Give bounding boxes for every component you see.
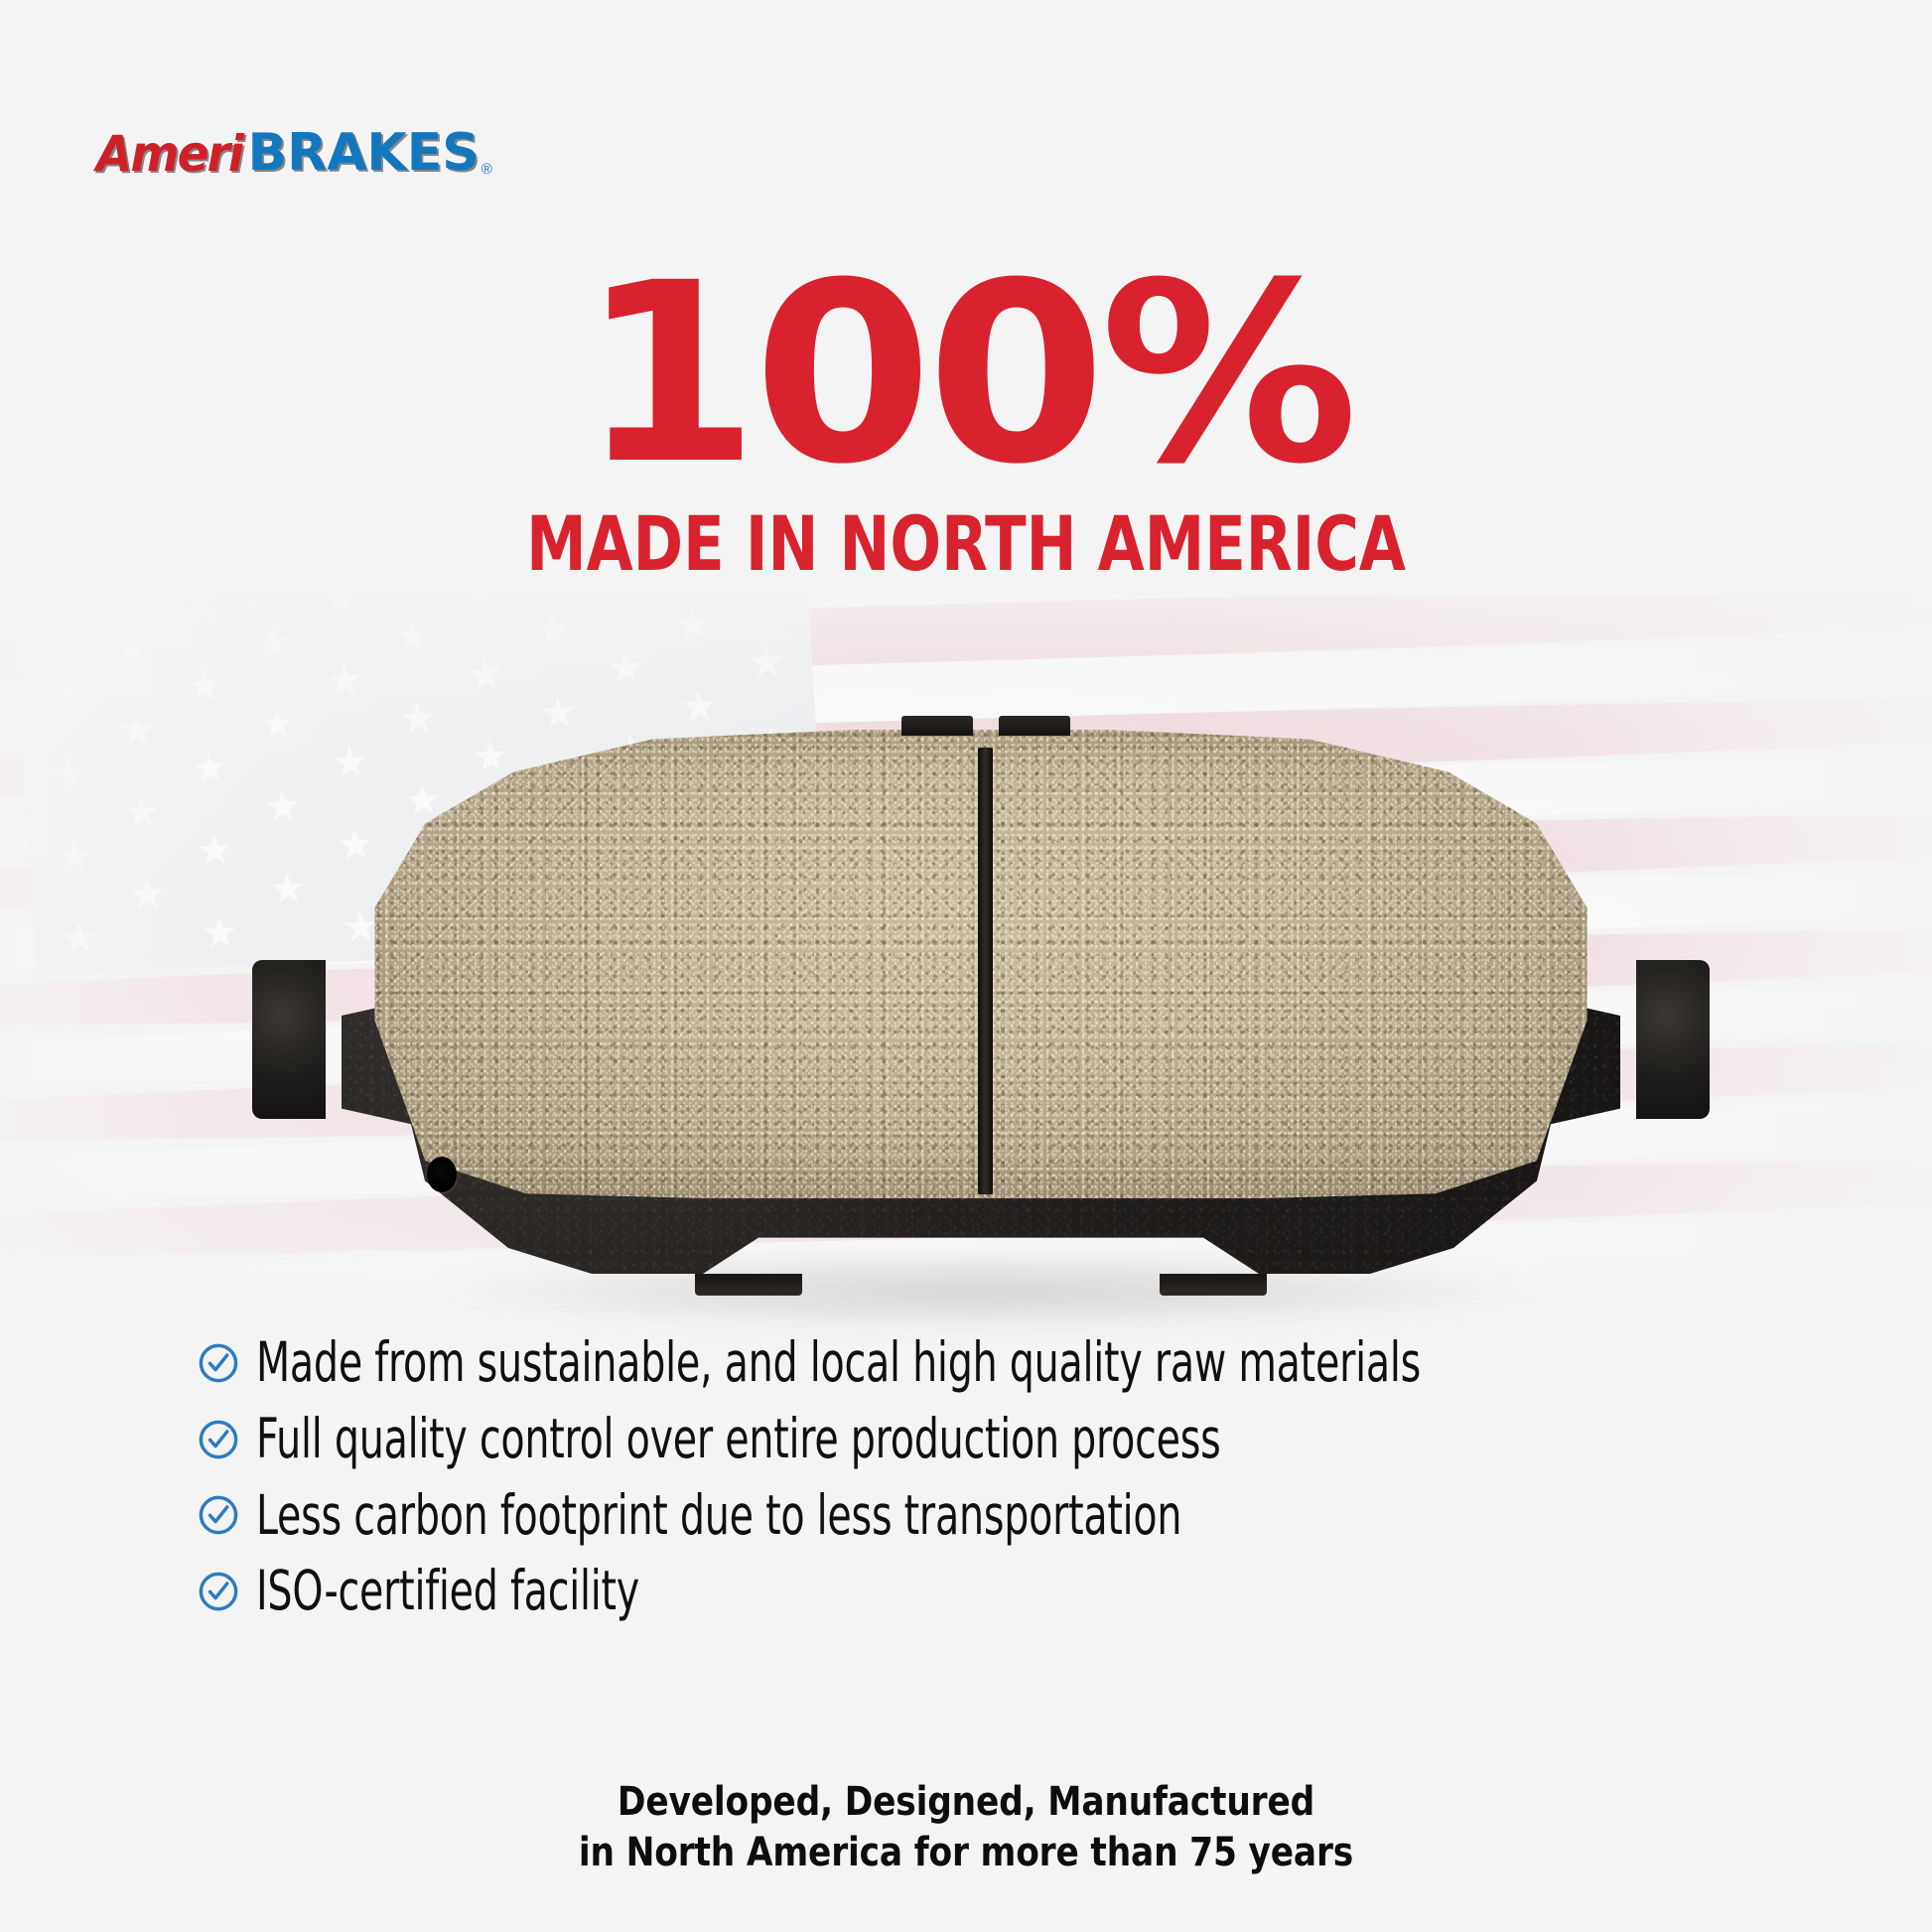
feature-label: Made from sustainable, and local high qu… xyxy=(256,1334,1421,1392)
check-circle-icon xyxy=(197,1493,240,1537)
registered-trademark-icon: ® xyxy=(482,162,492,177)
list-item: Made from sustainable, and local high qu… xyxy=(197,1334,1805,1392)
check-circle-icon xyxy=(197,1418,240,1461)
pad-rivet-hole xyxy=(427,1157,457,1192)
pad-tab-bottom-right xyxy=(1160,1274,1267,1296)
check-circle-icon xyxy=(197,1341,240,1385)
footer-line-1: Developed, Designed, Manufactured xyxy=(135,1777,1797,1828)
logo-text-brakes: BRAKES xyxy=(248,127,480,179)
feature-list: Made from sustainable, and local high qu… xyxy=(197,1334,1805,1639)
pad-ear-right xyxy=(1636,960,1710,1119)
feature-label: Full quality control over entire product… xyxy=(256,1411,1221,1468)
promo-canvas: Ameri BRAKES ® 100% MADE IN NORTH AMERIC… xyxy=(0,0,1932,1932)
page-subtitle: MADE IN NORTH AMERICA xyxy=(194,506,1739,582)
list-item: Less carbon footprint due to less transp… xyxy=(197,1487,1805,1545)
brake-pad-image xyxy=(286,730,1676,1286)
check-circle-icon xyxy=(197,1570,240,1613)
pad-tab-top-right xyxy=(999,716,1070,736)
brand-logo: Ameri BRAKES ® xyxy=(96,127,492,179)
list-item: ISO-certified facility xyxy=(197,1563,1805,1620)
page-title: 100% xyxy=(0,260,1932,488)
logo-text-ameri: Ameri xyxy=(96,129,242,179)
footer-line-2: in North America for more than 75 years xyxy=(135,1828,1797,1878)
footer-block: Developed, Designed, Manufactured in Nor… xyxy=(0,1777,1932,1878)
product-shadow xyxy=(405,1256,1557,1325)
hero-heading-block: 100% MADE IN NORTH AMERICA xyxy=(0,260,1932,582)
pad-tab-bottom-left xyxy=(695,1274,802,1296)
pad-center-slot xyxy=(978,748,993,1194)
pad-tab-top-left xyxy=(901,716,973,736)
pad-ear-left xyxy=(252,960,326,1119)
feature-label: Less carbon footprint due to less transp… xyxy=(256,1487,1181,1545)
list-item: Full quality control over entire product… xyxy=(197,1411,1805,1468)
feature-label: ISO-certified facility xyxy=(256,1563,639,1620)
